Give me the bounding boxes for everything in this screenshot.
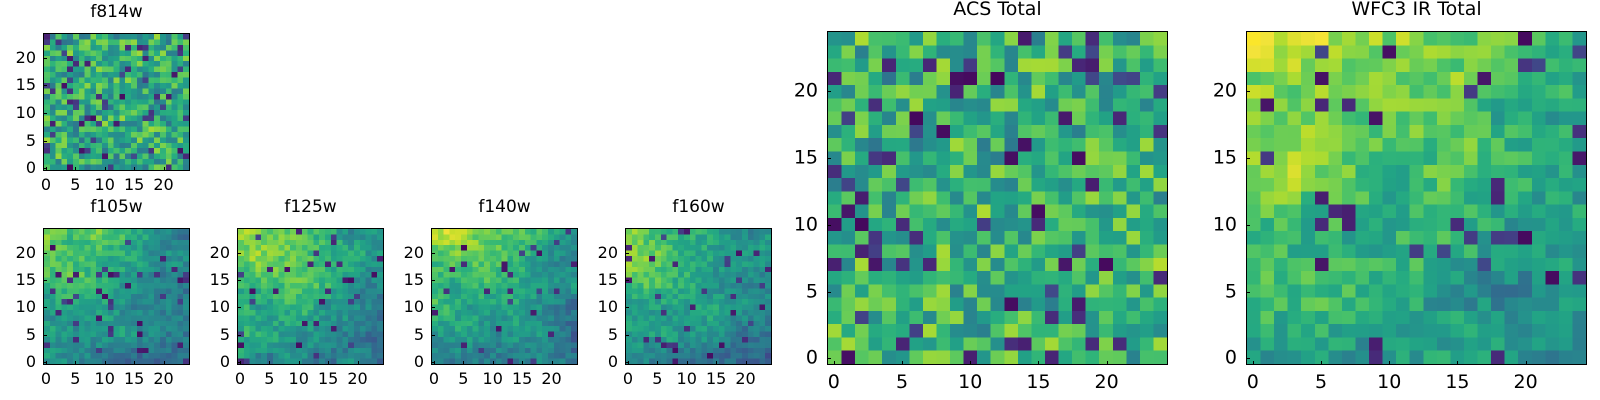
y-tick-f140w-0 <box>431 362 435 363</box>
y-tick-f140w-3 <box>431 280 435 281</box>
x-tick-label-f125w-3: 15 <box>318 371 338 387</box>
y-tick-label-f814w-1: 5 <box>0 133 36 149</box>
heatmap-image-f814w <box>44 34 189 170</box>
y-tick-acs-total-3 <box>827 158 831 159</box>
y-tick-label-f160w-0: 0 <box>565 354 618 370</box>
x-tick-acs-total-3 <box>1038 361 1039 365</box>
x-tick-f140w-3 <box>522 361 523 365</box>
heatmap-image-f125w <box>238 229 383 364</box>
heatmap-axes-f140w[interactable] <box>431 228 578 365</box>
x-tick-label-acs-total-4: 20 <box>1095 373 1119 392</box>
x-tick-wfc3-ir-total-0 <box>1253 361 1254 365</box>
x-tick-f105w-3 <box>134 361 135 365</box>
x-tick-label-f814w-2: 10 <box>95 177 115 193</box>
y-tick-label-f814w-0: 0 <box>0 160 36 176</box>
y-tick-label-f105w-1: 5 <box>0 327 36 343</box>
y-tick-f105w-4 <box>43 253 47 254</box>
y-tick-wfc3-ir-total-0 <box>1246 358 1250 359</box>
y-tick-f125w-4 <box>237 253 241 254</box>
y-tick-label-f105w-4: 20 <box>0 245 36 261</box>
x-tick-f140w-1 <box>463 361 464 365</box>
y-tick-f105w-0 <box>43 362 47 363</box>
x-tick-f160w-1 <box>657 361 658 365</box>
x-tick-label-wfc3-ir-total-1: 5 <box>1315 373 1327 392</box>
panel-f125w: f125w0510152005101520 <box>177 199 384 397</box>
y-tick-label-f125w-2: 10 <box>177 299 230 315</box>
x-tick-label-acs-total-2: 10 <box>958 373 982 392</box>
x-tick-wfc3-ir-total-3 <box>1457 361 1458 365</box>
y-tick-f160w-2 <box>625 307 629 308</box>
y-tick-label-f125w-1: 5 <box>177 327 230 343</box>
y-tick-f814w-4 <box>43 58 47 59</box>
x-tick-label-f160w-3: 15 <box>706 371 726 387</box>
panel-acs-total: ACS Total0510152005101520 <box>767 0 1168 397</box>
y-tick-f125w-0 <box>237 362 241 363</box>
y-tick-label-f160w-4: 20 <box>565 245 618 261</box>
panel-f814w: f814w0510152005101520 <box>0 4 190 203</box>
x-tick-acs-total-0 <box>834 361 835 365</box>
y-tick-wfc3-ir-total-3 <box>1246 158 1250 159</box>
y-tick-f814w-0 <box>43 168 47 169</box>
y-tick-label-f105w-0: 0 <box>0 354 36 370</box>
x-tick-label-f105w-4: 20 <box>153 371 173 387</box>
y-tick-label-f125w-4: 20 <box>177 245 230 261</box>
x-tick-f814w-3 <box>134 167 135 171</box>
x-tick-f125w-1 <box>269 361 270 365</box>
x-tick-acs-total-4 <box>1107 361 1108 365</box>
heatmap-axes-acs-total[interactable] <box>827 31 1168 365</box>
y-tick-label-f140w-1: 5 <box>371 327 424 343</box>
panel-f140w: f140w0510152005101520 <box>371 199 578 397</box>
y-tick-label-f160w-3: 15 <box>565 272 618 288</box>
panel-title-f160w: f160w <box>625 199 772 216</box>
x-tick-f814w-4 <box>164 167 165 171</box>
y-tick-acs-total-0 <box>827 358 831 359</box>
y-tick-label-f160w-2: 10 <box>565 299 618 315</box>
y-tick-f125w-1 <box>237 335 241 336</box>
panel-f105w: f105w0510152005101520 <box>0 199 190 397</box>
y-tick-f105w-1 <box>43 335 47 336</box>
y-tick-label-acs-total-4: 20 <box>767 82 818 101</box>
y-tick-label-f160w-1: 5 <box>565 327 618 343</box>
x-tick-f160w-4 <box>746 361 747 365</box>
x-tick-label-f160w-1: 5 <box>652 371 662 387</box>
y-tick-label-wfc3-ir-total-2: 10 <box>1186 215 1237 234</box>
x-tick-label-f140w-2: 10 <box>483 371 503 387</box>
y-tick-wfc3-ir-total-1 <box>1246 292 1250 293</box>
y-tick-label-f125w-0: 0 <box>177 354 230 370</box>
y-tick-label-acs-total-2: 10 <box>767 215 818 234</box>
panel-f160w: f160w0510152005101520 <box>565 199 772 397</box>
y-tick-acs-total-2 <box>827 225 831 226</box>
x-tick-label-f105w-2: 10 <box>95 371 115 387</box>
figure-canvas: f814w0510152005101520f105w05101520051015… <box>0 0 1600 400</box>
x-tick-label-f140w-0: 0 <box>429 371 439 387</box>
x-tick-label-f125w-1: 5 <box>264 371 274 387</box>
y-tick-f140w-4 <box>431 253 435 254</box>
y-tick-label-wfc3-ir-total-4: 20 <box>1186 82 1237 101</box>
x-tick-label-acs-total-0: 0 <box>828 373 840 392</box>
y-tick-f814w-3 <box>43 85 47 86</box>
x-tick-label-wfc3-ir-total-4: 20 <box>1514 373 1538 392</box>
y-tick-f160w-4 <box>625 253 629 254</box>
x-tick-label-f125w-2: 10 <box>289 371 309 387</box>
panel-title-acs-total: ACS Total <box>827 0 1168 19</box>
y-tick-f160w-0 <box>625 362 629 363</box>
y-tick-label-f125w-3: 15 <box>177 272 230 288</box>
y-tick-f105w-2 <box>43 307 47 308</box>
y-tick-label-f105w-3: 15 <box>0 272 36 288</box>
x-tick-f105w-2 <box>105 361 106 365</box>
x-tick-f125w-2 <box>299 361 300 365</box>
y-tick-f160w-1 <box>625 335 629 336</box>
y-tick-label-wfc3-ir-total-1: 5 <box>1186 282 1237 301</box>
y-tick-acs-total-4 <box>827 91 831 92</box>
y-tick-label-wfc3-ir-total-3: 15 <box>1186 148 1237 167</box>
x-tick-label-f105w-3: 15 <box>124 371 144 387</box>
heatmap-image-f160w <box>626 229 771 364</box>
x-tick-wfc3-ir-total-1 <box>1321 361 1322 365</box>
x-tick-label-wfc3-ir-total-2: 10 <box>1377 373 1401 392</box>
x-tick-label-f160w-0: 0 <box>623 371 633 387</box>
x-tick-label-f160w-4: 20 <box>735 371 755 387</box>
x-tick-label-f140w-3: 15 <box>512 371 532 387</box>
heatmap-image-f105w <box>44 229 189 364</box>
x-tick-label-wfc3-ir-total-3: 15 <box>1445 373 1469 392</box>
x-tick-f160w-3 <box>716 361 717 365</box>
y-tick-wfc3-ir-total-4 <box>1246 91 1250 92</box>
panel-title-f105w: f105w <box>43 199 190 216</box>
y-tick-label-f140w-4: 20 <box>371 245 424 261</box>
panel-title-f814w: f814w <box>43 4 190 21</box>
y-tick-acs-total-1 <box>827 292 831 293</box>
y-tick-f125w-2 <box>237 307 241 308</box>
panel-title-f140w: f140w <box>431 199 578 216</box>
heatmap-image-acs-total <box>828 32 1167 364</box>
y-tick-f105w-3 <box>43 280 47 281</box>
y-tick-label-f140w-2: 10 <box>371 299 424 315</box>
y-tick-label-f814w-3: 15 <box>0 77 36 93</box>
x-tick-acs-total-1 <box>902 361 903 365</box>
x-tick-label-f125w-0: 0 <box>235 371 245 387</box>
heatmap-axes-f160w[interactable] <box>625 228 772 365</box>
y-tick-f160w-3 <box>625 280 629 281</box>
x-tick-f140w-2 <box>493 361 494 365</box>
x-tick-label-f105w-0: 0 <box>41 371 51 387</box>
heatmap-image-f140w <box>432 229 577 364</box>
heatmap-axes-f125w[interactable] <box>237 228 384 365</box>
y-tick-wfc3-ir-total-2 <box>1246 225 1250 226</box>
x-tick-f105w-1 <box>75 361 76 365</box>
x-tick-wfc3-ir-total-2 <box>1389 361 1390 365</box>
y-tick-label-f814w-4: 20 <box>0 50 36 66</box>
y-tick-f814w-2 <box>43 113 47 114</box>
y-tick-f814w-1 <box>43 141 47 142</box>
heatmap-axes-wfc3-ir-total[interactable] <box>1246 31 1587 365</box>
heatmap-axes-f105w[interactable] <box>43 228 190 365</box>
panel-wfc3-ir-total: WFC3 IR Total0510152005101520 <box>1186 0 1587 397</box>
x-tick-label-f140w-4: 20 <box>541 371 561 387</box>
y-tick-label-f814w-2: 10 <box>0 105 36 121</box>
y-tick-label-f140w-3: 15 <box>371 272 424 288</box>
x-tick-label-f140w-1: 5 <box>458 371 468 387</box>
x-tick-acs-total-2 <box>970 361 971 365</box>
y-tick-label-f105w-2: 10 <box>0 299 36 315</box>
x-tick-label-f814w-0: 0 <box>41 177 51 193</box>
x-tick-f814w-1 <box>75 167 76 171</box>
x-tick-f140w-4 <box>552 361 553 365</box>
y-tick-label-wfc3-ir-total-0: 0 <box>1186 349 1237 368</box>
x-tick-label-f105w-1: 5 <box>70 371 80 387</box>
x-tick-label-f125w-4: 20 <box>347 371 367 387</box>
x-tick-label-acs-total-1: 5 <box>896 373 908 392</box>
x-tick-label-wfc3-ir-total-0: 0 <box>1247 373 1259 392</box>
y-tick-f140w-1 <box>431 335 435 336</box>
heatmap-axes-f814w[interactable] <box>43 33 190 171</box>
x-tick-label-f160w-2: 10 <box>677 371 697 387</box>
y-tick-label-acs-total-1: 5 <box>767 282 818 301</box>
x-tick-f105w-4 <box>164 361 165 365</box>
panel-title-wfc3-ir-total: WFC3 IR Total <box>1246 0 1587 19</box>
y-tick-f125w-3 <box>237 280 241 281</box>
y-tick-label-acs-total-0: 0 <box>767 349 818 368</box>
x-tick-f125w-4 <box>358 361 359 365</box>
heatmap-image-wfc3-ir-total <box>1247 32 1586 364</box>
x-tick-label-f814w-3: 15 <box>124 177 144 193</box>
x-tick-label-acs-total-3: 15 <box>1026 373 1050 392</box>
y-tick-label-f140w-0: 0 <box>371 354 424 370</box>
panel-title-f125w: f125w <box>237 199 384 216</box>
x-tick-f814w-2 <box>105 167 106 171</box>
x-tick-f160w-2 <box>687 361 688 365</box>
x-tick-label-f814w-4: 20 <box>153 177 173 193</box>
x-tick-f125w-3 <box>328 361 329 365</box>
x-tick-label-f814w-1: 5 <box>70 177 80 193</box>
x-tick-wfc3-ir-total-4 <box>1526 361 1527 365</box>
y-tick-f140w-2 <box>431 307 435 308</box>
y-tick-label-acs-total-3: 15 <box>767 148 818 167</box>
